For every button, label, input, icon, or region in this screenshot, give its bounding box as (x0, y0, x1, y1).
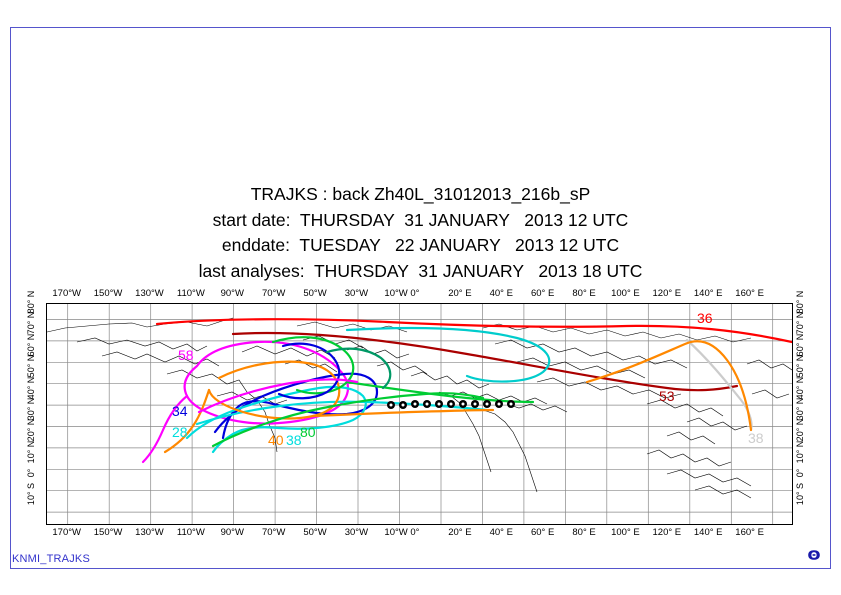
y-tick-label: 10° N (26, 440, 36, 463)
x-tick-label: 100° E (611, 527, 640, 538)
x-tick-label: 170°W (52, 288, 81, 299)
x-tick-label: 110°W (177, 288, 205, 299)
trajectory-id-label: 34 (172, 403, 188, 419)
x-tick-label: 150°W (94, 527, 123, 538)
x-tick-label: 140° E (694, 288, 723, 299)
y-tick-label: 70° N (795, 312, 805, 335)
x-tick-label: 20° E (448, 288, 471, 299)
y-tick-label: 30° N (795, 398, 805, 421)
y-tick-label: 40° N (26, 376, 36, 399)
y-tick-label: 70° N (26, 312, 36, 335)
x-tick-label: 160° E (735, 527, 764, 538)
x-tick-label: 10°W 0° (384, 288, 419, 299)
trajectory-id-label: 80 (300, 424, 316, 440)
figure-canvas: TRAJKS : back Zh40L_31012013_216b_sP sta… (0, 0, 841, 595)
x-tick-label: 90°W (221, 288, 244, 299)
x-tick-label: 30°W (345, 527, 368, 538)
y-tick-label: 80° N (26, 291, 36, 314)
x-tick-label: 10°W 0° (384, 527, 419, 538)
y-tick-label: 10° S (26, 483, 36, 505)
x-tick-label: 20° E (448, 527, 471, 538)
traj-40 (209, 362, 339, 419)
trajectory-id-label: 28 (172, 424, 188, 440)
x-tick-label: 90°W (221, 527, 244, 538)
x-tick-label: 40° E (490, 527, 513, 538)
trajectory-id-label: 36 (697, 310, 713, 326)
x-tick-label: 120° E (653, 527, 682, 538)
x-tick-label: 40° E (490, 288, 513, 299)
y-tick-label: 20° N (26, 419, 36, 442)
traj-40-tail (165, 390, 209, 452)
trajectory-id-label: 53 (659, 388, 675, 404)
x-tick-label: 50°W (303, 288, 326, 299)
x-tick-label: 120° E (653, 288, 682, 299)
title-line-1: TRAJKS : back Zh40L_31012013_216b_sP (0, 182, 841, 208)
x-tick-label: 30°W (345, 288, 368, 299)
y-tick-label: 0° (795, 469, 805, 478)
y-tick-label: 80° N (795, 291, 805, 314)
y-tick-label: 40° N (795, 376, 805, 399)
traj-40-east (313, 410, 493, 416)
title-line-3: enddate: TUESDAY 22 JANUARY 2013 12 UTC (0, 233, 841, 259)
x-tick-label: 60° E (531, 527, 554, 538)
y-tick-label: 10° S (795, 483, 805, 505)
y-tick-label: 30° N (26, 398, 36, 421)
title-line-2: start date: THURSDAY 31 JANUARY 2013 12 … (0, 208, 841, 234)
x-tick-label: 70°W (262, 527, 285, 538)
x-tick-label: 110°W (177, 527, 205, 538)
x-tick-label: 160° E (735, 288, 764, 299)
y-tick-label: 60° N (795, 333, 805, 356)
trajectory-id-label: 40 (268, 432, 284, 448)
traj-58 (185, 342, 348, 424)
x-tick-label: 130°W (135, 527, 164, 538)
y-axis-left: 80° N70° N60° N50° N40° N30° N20° N10° N… (26, 303, 42, 525)
x-axis-top: 170°W150°W130°W110°W90°W70°W50°W30°W10°W… (46, 288, 793, 302)
y-tick-label: 0° (26, 469, 36, 478)
x-tick-label: 70°W (262, 288, 285, 299)
map-svg (47, 304, 792, 524)
x-tick-label: 80° E (572, 527, 595, 538)
x-tick-label: 170°W (52, 527, 81, 538)
knmi-watermark: KNMI_TRAJKS (12, 553, 90, 565)
x-tick-label: 150°W (94, 288, 123, 299)
y-tick-label: 20° N (795, 419, 805, 442)
y-tick-label: 10° N (795, 440, 805, 463)
x-axis-bottom: 170°W150°W130°W110°W90°W70°W50°W30°W10°W… (46, 527, 793, 541)
y-tick-label: 60° N (26, 333, 36, 356)
trajectory-id-label: 38 (748, 430, 764, 446)
x-tick-label: 100° E (611, 288, 640, 299)
title-line-4: last analyses: THURSDAY 31 JANUARY 2013 … (0, 259, 841, 285)
y-axis-right: 80° N70° N60° N50° N40° N30° N20° N10° N… (795, 303, 811, 525)
y-tick-label: 50° N (26, 355, 36, 378)
traj-38b (687, 340, 752, 430)
trajectory-map (46, 303, 793, 525)
x-tick-label: 60° E (531, 288, 554, 299)
graticule (47, 304, 792, 524)
x-tick-label: 130°W (135, 288, 164, 299)
trajectory-id-label: 58 (178, 347, 194, 363)
title-block: TRAJKS : back Zh40L_31012013_216b_sP sta… (0, 182, 841, 284)
y-tick-label: 50° N (795, 355, 805, 378)
x-tick-label: 140° E (694, 527, 723, 538)
x-tick-label: 50°W (303, 527, 326, 538)
x-tick-label: 80° E (572, 288, 595, 299)
ecmwf-logo-icon (803, 548, 825, 562)
